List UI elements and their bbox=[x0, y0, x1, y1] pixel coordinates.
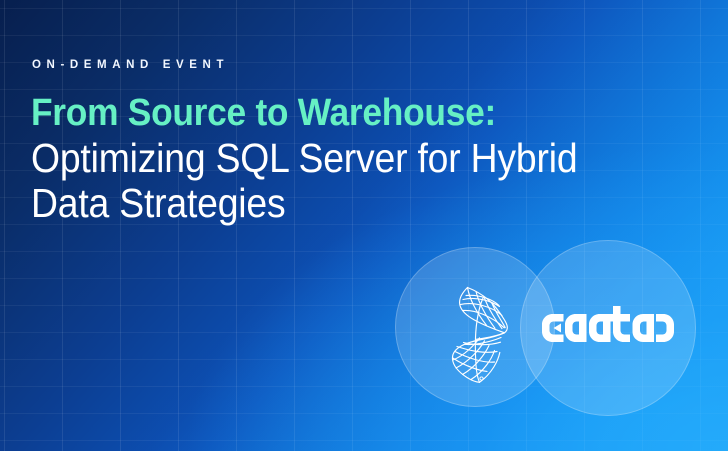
cdata-logo: cdata bbox=[542, 306, 674, 350]
headline-line-2: Optimizing SQL Server for Hybrid bbox=[31, 138, 632, 179]
banner-text-block: ON-DEMAND EVENT From Source to Warehouse… bbox=[31, 60, 691, 228]
cdata-logo-circle: cdata bbox=[520, 240, 696, 416]
event-promo-banner: ON-DEMAND EVENT From Source to Warehouse… bbox=[0, 0, 728, 451]
page-title: From Source to Warehouse: Optimizing SQL… bbox=[31, 94, 691, 224]
headline-accent-line: From Source to Warehouse: bbox=[31, 94, 645, 132]
headline-line-3: Data Strategies bbox=[31, 183, 632, 224]
event-type-eyebrow: ON-DEMAND EVENT bbox=[32, 60, 691, 72]
logo-lockup: cdata bbox=[390, 240, 700, 418]
sql-server-logo bbox=[441, 283, 519, 383]
